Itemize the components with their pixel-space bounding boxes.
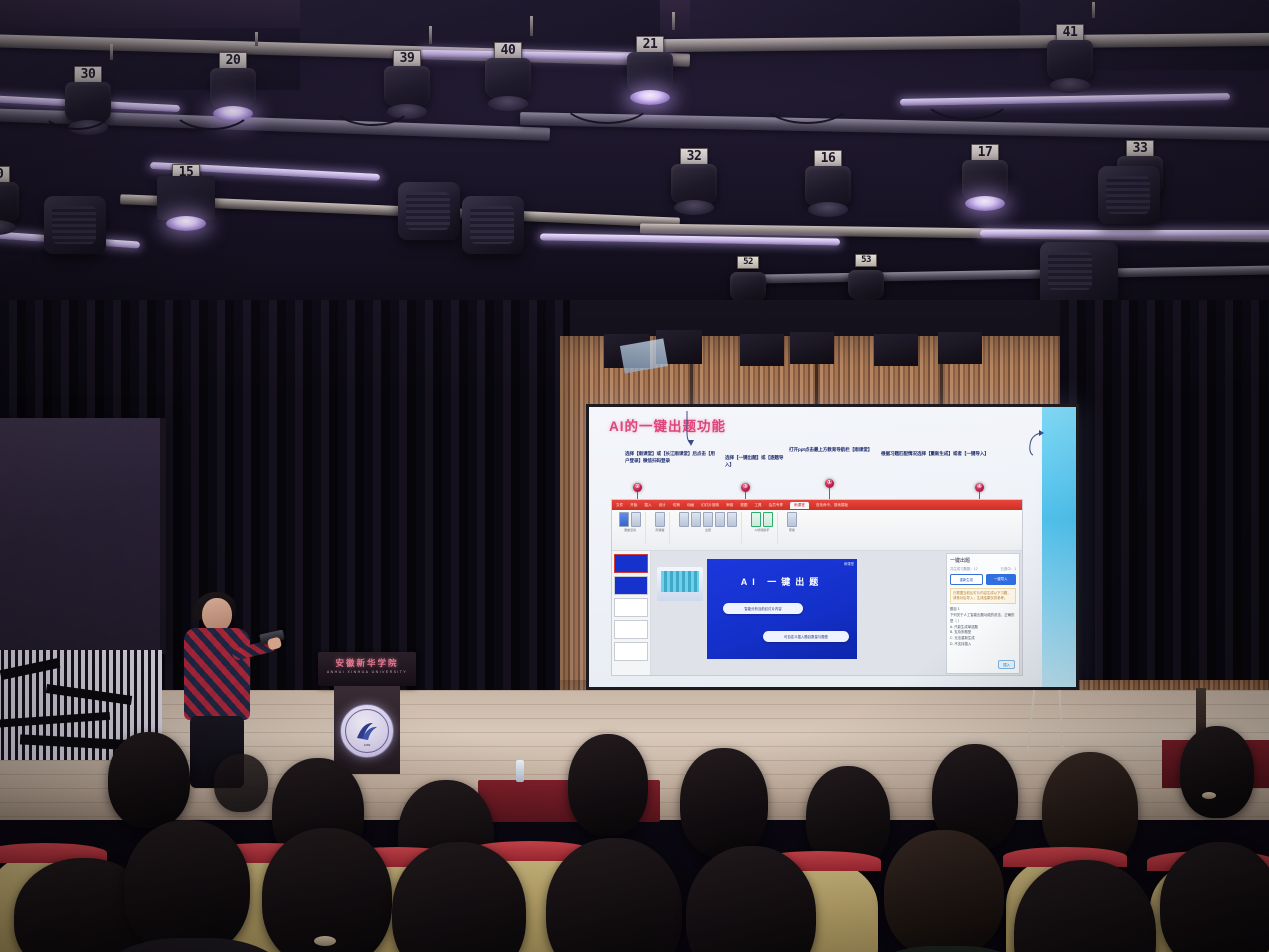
ribbon-group-label: 课堂活动 bbox=[624, 528, 636, 532]
one-click-question-button[interactable] bbox=[751, 512, 761, 527]
vote-button[interactable] bbox=[703, 512, 713, 527]
ribbon-group-label: AI智能助手 bbox=[755, 528, 770, 532]
subjective-button[interactable] bbox=[715, 512, 725, 527]
ribbon-tab-slideshow[interactable]: 幻灯片放映 bbox=[701, 503, 719, 508]
one-click-import-button[interactable]: 一键导入 bbox=[986, 574, 1017, 585]
light-number-tag: 52 bbox=[737, 256, 759, 269]
university-name-cn: 安徽新华学院 bbox=[318, 657, 416, 669]
generated-count: 共生成习题数：12 bbox=[950, 566, 978, 571]
annotation-text-3: 选择【一键出题】或【逐题导入】 bbox=[725, 455, 785, 468]
ribbon-tab-member[interactable]: 会员专享 bbox=[769, 503, 783, 508]
light-number-tag: 21 bbox=[636, 36, 664, 54]
ribbon-tab-transition[interactable]: 切换 bbox=[673, 503, 680, 508]
fresnel-light bbox=[44, 196, 106, 254]
light-number-tag: 33 bbox=[1126, 140, 1154, 158]
light-number-tag: 39 bbox=[393, 50, 421, 68]
side-display-monitor bbox=[0, 418, 166, 654]
slide-canvas: 雨课堂 AI 一键出题 智能分析当前幻灯片内容 可自定义插入题目数量与题型 一键… bbox=[651, 551, 1022, 676]
laptop-illustration bbox=[657, 567, 703, 601]
qrcode-button[interactable] bbox=[631, 512, 641, 527]
slide-content-blue: 雨课堂 AI 一键出题 智能分析当前幻灯片内容 可自定义插入题目数量与题型 bbox=[707, 559, 857, 659]
courseware-button[interactable] bbox=[655, 512, 665, 527]
ribbon-tab-tools[interactable]: 工具 bbox=[754, 503, 761, 508]
ribbon-tab-bar: 文件 开始 插入 设计 切换 动画 幻灯片放映 审阅 视图 工具 会员专享 雨课… bbox=[612, 500, 1023, 510]
slide-thumbnail[interactable] bbox=[614, 554, 648, 573]
slide-button-secondary[interactable]: 可自定义插入题目数量与题型 bbox=[763, 631, 849, 642]
pointer-arrow-icon bbox=[677, 411, 703, 449]
ribbon-group-ai: AI智能助手 bbox=[747, 512, 778, 544]
annotation-marker-2: ② bbox=[633, 483, 642, 492]
wall-wash-light bbox=[938, 332, 982, 364]
ribbon-group-class: 课堂活动 bbox=[615, 512, 646, 544]
audience-head-front bbox=[124, 820, 250, 952]
watermark-label: 雨课堂 bbox=[844, 561, 854, 566]
ceiling-rig: 30 20 39 40 30 15 21 bbox=[0, 0, 1269, 330]
slide-button-primary[interactable]: 智能分析当前幻灯片内容 bbox=[723, 603, 803, 614]
slide-thumbnail[interactable] bbox=[614, 598, 648, 617]
ribbon-group-label: 帮助 bbox=[789, 528, 795, 532]
audience-head-front bbox=[262, 828, 392, 952]
light-number-tag: 30 bbox=[74, 66, 102, 84]
slide-thumbnail[interactable] bbox=[614, 576, 648, 595]
screen-cyan-band bbox=[1042, 407, 1076, 687]
question-index: 题目 1 bbox=[950, 607, 960, 611]
fill-blank-button[interactable] bbox=[727, 512, 737, 527]
task-pane-title: 一键出题 bbox=[950, 557, 1016, 564]
powerpoint-window: 文件 开始 插入 设计 切换 动画 幻灯片放映 审阅 视图 工具 会员专享 雨课… bbox=[611, 499, 1023, 676]
auditorium-photo: 30 20 39 40 30 15 21 bbox=[0, 0, 1269, 952]
selected-count: 已选中：1 bbox=[1001, 566, 1016, 571]
light-number-tag: 32 bbox=[680, 148, 708, 166]
ribbon-commands: 课堂活动 雨课堂 出题 bbox=[612, 510, 1023, 551]
regenerate-button[interactable]: 重新生成 bbox=[950, 574, 983, 585]
slide-thumbnail[interactable] bbox=[614, 642, 648, 661]
annotation-marker-1: ① bbox=[825, 479, 834, 488]
ribbon-tab-design[interactable]: 设计 bbox=[659, 503, 666, 508]
ribbon-tab-view[interactable]: 视图 bbox=[740, 503, 747, 508]
light-number-tag: 40 bbox=[494, 42, 522, 60]
question-option-d[interactable]: D. 不支持插入 bbox=[950, 642, 1016, 648]
ribbon-tab-rain-classroom[interactable]: 雨课堂 bbox=[790, 502, 809, 509]
slide-thumbnail-panel[interactable] bbox=[612, 551, 651, 676]
open-class-button[interactable] bbox=[619, 512, 629, 527]
wall-wash-light bbox=[740, 334, 784, 366]
insert-question-button[interactable]: 插入 bbox=[998, 660, 1015, 669]
ribbon-tab-file[interactable]: 文件 bbox=[616, 503, 623, 508]
annotation-text-2: 选择【雨课堂】或【长江雨课堂】后点击【用户登录】微信扫码登录 bbox=[625, 451, 719, 464]
light-number-tag: 17 bbox=[971, 144, 999, 162]
ribbon-group-question: 出题 bbox=[675, 512, 742, 544]
audience-area bbox=[0, 700, 1269, 952]
question-text: 下列关于人工智能出题功能的说法，正确的是（ ） bbox=[950, 613, 1016, 625]
audience-head-front bbox=[884, 830, 1004, 952]
single-choice-button[interactable] bbox=[679, 512, 689, 527]
light-number-tag: 16 bbox=[814, 150, 842, 168]
light-number-tag: 30 bbox=[0, 166, 10, 184]
wall-wash-light bbox=[874, 334, 918, 366]
ribbon-search-box[interactable]: 查找命令、搜索模板 bbox=[816, 503, 848, 508]
fresnel-light bbox=[1098, 166, 1160, 224]
ribbon-tab-animation[interactable]: 动画 bbox=[687, 503, 694, 508]
light-number-tag: 53 bbox=[855, 254, 877, 267]
fresnel-light bbox=[1040, 242, 1118, 308]
light-number-tag: 20 bbox=[219, 52, 247, 70]
fresnel-light bbox=[398, 182, 460, 240]
ribbon-tab-home[interactable]: 开始 bbox=[630, 503, 637, 508]
ribbon-group-help: 帮助 bbox=[783, 512, 801, 544]
audience-head bbox=[214, 754, 268, 812]
audience-head bbox=[108, 732, 190, 828]
fresnel-light bbox=[462, 196, 524, 254]
annotation-marker-3: ③ bbox=[741, 483, 750, 492]
ribbon-group-label: 出题 bbox=[705, 528, 711, 532]
one-click-question-panel: 一键出题 共生成习题数：12 已选中：1 重新生成 一键导入 已根据当前幻灯片内… bbox=[946, 553, 1020, 674]
slide-thumbnail[interactable] bbox=[614, 620, 648, 639]
annotation-marker-4: ④ bbox=[975, 483, 984, 492]
slide-heading: AI 一键出题 bbox=[707, 575, 857, 588]
multi-choice-button[interactable] bbox=[691, 512, 701, 527]
university-name-en: ANHUI XINHUA UNIVERSITY bbox=[318, 670, 416, 674]
annotation-text-1: 打开ppt点击最上方教育导航栏【雨课堂】 bbox=[789, 447, 873, 454]
annotation-text-4: 根据习题匹配情况选择【重新生成】或者【一键导入】 bbox=[881, 451, 991, 458]
ribbon-group-label: 雨课堂 bbox=[655, 528, 664, 532]
slide-title: AI的一键出题功能 bbox=[609, 415, 726, 435]
audience-head bbox=[1180, 726, 1254, 818]
ai-help-button[interactable] bbox=[787, 512, 797, 527]
audience-head bbox=[568, 734, 648, 836]
ribbon-tab-review[interactable]: 审阅 bbox=[726, 503, 733, 508]
ppt-workspace: 雨课堂 AI 一键出题 智能分析当前幻灯片内容 可自定义插入题目数量与题型 一键… bbox=[612, 551, 1022, 676]
import-by-question-button[interactable] bbox=[763, 512, 773, 527]
ribbon-tab-insert[interactable]: 插入 bbox=[644, 503, 651, 508]
wall-wash-light bbox=[790, 332, 834, 364]
hair-tie bbox=[1202, 792, 1216, 799]
pointer-arrow-icon bbox=[1021, 429, 1045, 459]
audience-head bbox=[680, 748, 768, 858]
ribbon-group-rain: 雨课堂 bbox=[651, 512, 670, 544]
light-number-tag: 41 bbox=[1056, 24, 1084, 42]
led-screen: AI的一键出题功能 选择【雨课堂】或【长江雨课堂】后点击【用户登录】微信扫码登录… bbox=[586, 404, 1079, 690]
hair-tie bbox=[314, 936, 336, 946]
panel-notice: 已根据当前幻灯片内容生成以下习题，请核对后导入；生成结果仅供参考。 bbox=[950, 588, 1016, 604]
